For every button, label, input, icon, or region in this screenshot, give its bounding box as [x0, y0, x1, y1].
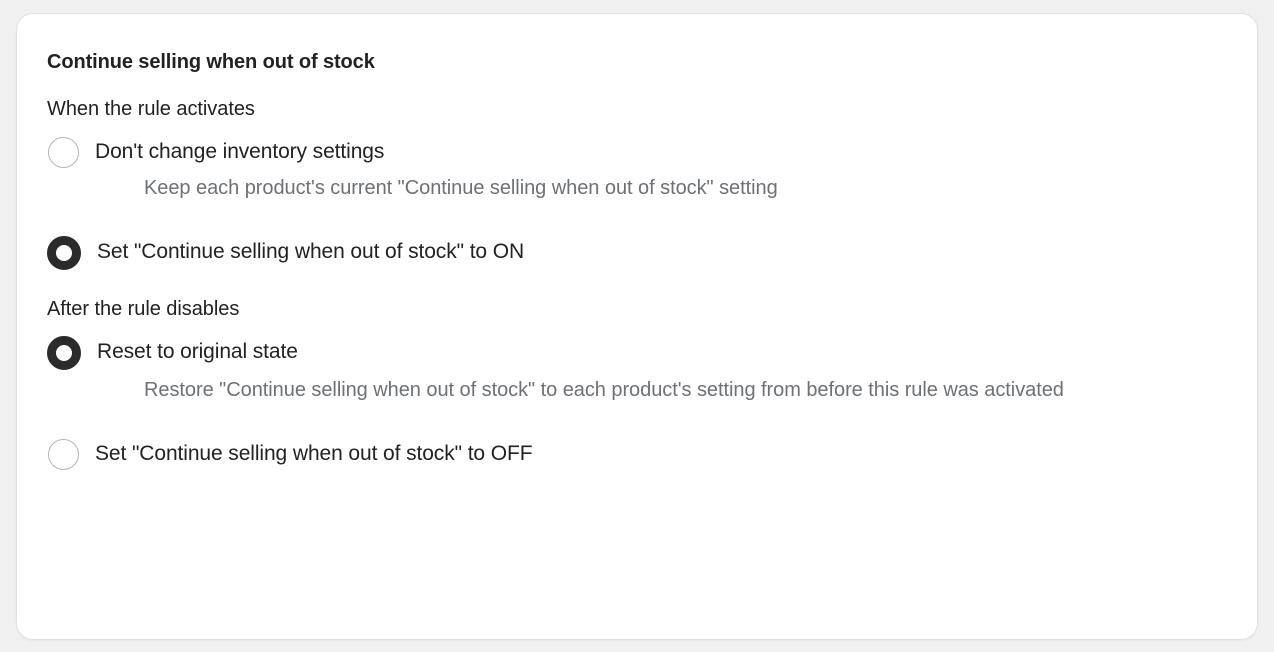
radio-icon-set-continue-selling-off[interactable] — [48, 439, 79, 470]
option-row-set-continue-selling-on[interactable]: Set "Continue selling when out of stock"… — [47, 236, 1227, 270]
radio-label-reset-to-original-state: Reset to original state — [97, 336, 298, 365]
card-content: Continue selling when out of stock When … — [17, 14, 1257, 470]
radio-description-dont-change-inventory: Keep each product's current "Continue se… — [144, 173, 1227, 203]
section-header-after-rule-disables: After the rule disables — [47, 296, 1227, 322]
option-row-reset-to-original-state[interactable]: Reset to original state Restore "Continu… — [47, 336, 1227, 405]
option-row-set-continue-selling-off[interactable]: Set "Continue selling when out of stock"… — [47, 438, 1227, 470]
radio-label-dont-change-inventory: Don't change inventory settings — [95, 136, 384, 165]
radio-icon-dont-change-inventory[interactable] — [48, 137, 79, 168]
radio-option-set-continue-selling-on[interactable]: Set "Continue selling when out of stock"… — [47, 236, 1227, 270]
radio-description-reset-to-original-state: Restore "Continue selling when out of st… — [144, 375, 1227, 405]
radio-label-set-continue-selling-off: Set "Continue selling when out of stock"… — [95, 438, 532, 467]
radio-option-reset-to-original-state[interactable]: Reset to original state — [47, 336, 1227, 370]
option-row-dont-change-inventory[interactable]: Don't change inventory settings Keep eac… — [47, 136, 1227, 203]
spacer-activate — [47, 220, 1227, 236]
radio-option-set-continue-selling-off[interactable]: Set "Continue selling when out of stock"… — [47, 438, 1227, 470]
page-title: Continue selling when out of stock — [47, 49, 1227, 75]
radio-label-set-continue-selling-on: Set "Continue selling when out of stock"… — [97, 236, 524, 265]
spacer-disable — [47, 422, 1227, 438]
radio-option-dont-change-inventory[interactable]: Don't change inventory settings — [47, 136, 1227, 168]
section-header-when-rule-activates: When the rule activates — [47, 96, 1227, 122]
radio-icon-set-continue-selling-on[interactable] — [47, 236, 81, 270]
continue-selling-settings-card: Continue selling when out of stock When … — [16, 13, 1258, 640]
radio-icon-reset-to-original-state[interactable] — [47, 336, 81, 370]
